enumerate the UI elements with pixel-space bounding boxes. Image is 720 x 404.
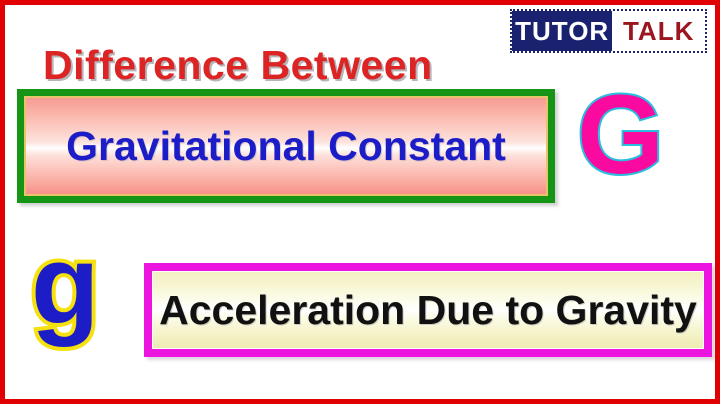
brand-logo-tutor: TUTOR <box>512 11 612 51</box>
acceleration-due-to-gravity-box-inner: Acceleration Due to Gravity <box>153 272 703 348</box>
gravitational-constant-label: Gravitational Constant <box>66 123 506 170</box>
page-title-word-1: Difference <box>43 42 249 88</box>
gravitational-constant-box: Gravitational Constant <box>17 89 555 203</box>
brand-logo-talk: TALK <box>612 11 705 51</box>
acceleration-due-to-gravity-label: Acceleration Due to Gravity <box>159 287 697 334</box>
acceleration-due-to-gravity-box: Acceleration Due to Gravity <box>144 263 712 357</box>
symbol-capital-g: G <box>577 79 664 191</box>
symbol-lowercase-g: g <box>31 229 99 341</box>
slide-canvas: DifferenceBetween TUTOR TALK Gravitation… <box>0 0 720 404</box>
page-title: DifferenceBetween <box>43 41 433 89</box>
brand-logo: TUTOR TALK <box>510 9 707 53</box>
gravitational-constant-box-inner: Gravitational Constant <box>26 98 546 194</box>
page-title-word-2: Between <box>261 42 433 88</box>
